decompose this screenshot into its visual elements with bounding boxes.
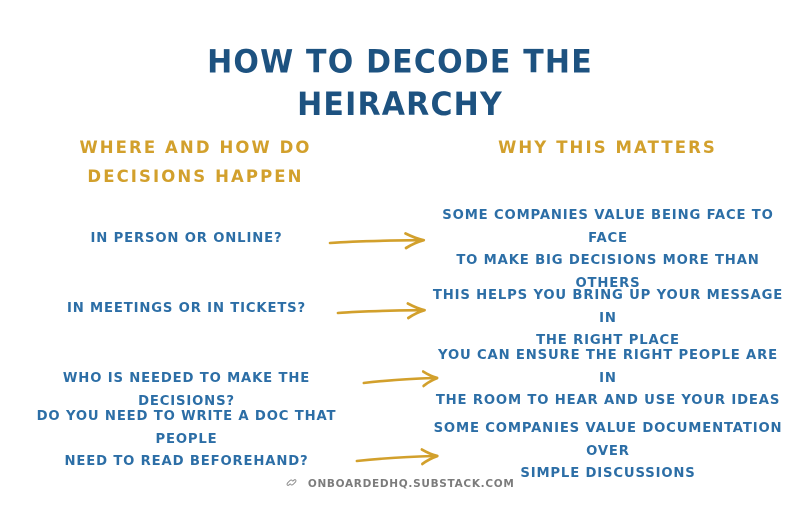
- question-line-1: DO YOU NEED TO WRITE A DOC THAT PEOPLE: [14, 406, 359, 451]
- arrow-right-icon: [328, 231, 436, 253]
- link-chain-icon: [285, 476, 298, 489]
- footer-attribution: ONBOARDEDHQ.SUBSTACK.COM: [0, 476, 800, 490]
- arrow-right-icon: [336, 301, 436, 323]
- reason-line-1: THIS HELPS YOU BRING UP YOUR MESSAGE IN: [428, 285, 788, 330]
- question-cell: DO YOU NEED TO WRITE A DOC THAT PEOPLE N…: [14, 406, 359, 474]
- page-title-line-1: HOW TO DECODE THE: [0, 42, 800, 84]
- column-header-right: WHY THIS MATTERS: [430, 134, 785, 163]
- question-line-1: IN MEETINGS OR IN TICKETS?: [14, 298, 359, 321]
- reason-cell: YOU CAN ENSURE THE RIGHT PEOPLE ARE IN T…: [428, 345, 788, 413]
- reason-cell: SOME COMPANIES VALUE BEING FACE TO FACE …: [428, 205, 788, 296]
- page-title-line-2: HEIRARCHY: [0, 84, 800, 126]
- question-line-1: IN PERSON OR ONLINE?: [14, 228, 359, 251]
- reason-line-1: SOME COMPANIES VALUE DOCUMENTATION OVER: [428, 418, 788, 463]
- question-cell: IN PERSON OR ONLINE?: [14, 228, 359, 251]
- page-title: HOW TO DECODE THE HEIRARCHY: [0, 42, 800, 126]
- question-cell: IN MEETINGS OR IN TICKETS?: [14, 298, 359, 321]
- infographic-poster: HOW TO DECODE THE HEIRARCHY WHERE AND HO…: [0, 0, 800, 528]
- reason-line-1: SOME COMPANIES VALUE BEING FACE TO FACE: [428, 205, 788, 250]
- column-header-left-line-2: HAPPEN: [215, 167, 303, 186]
- question-line-2: NEED TO READ BEFOREHAND?: [14, 451, 359, 474]
- reason-line-2: THE ROOM TO HEAR AND USE YOUR IDEAS: [428, 390, 788, 413]
- column-header-right-line-1: WHY THIS MATTERS: [498, 138, 717, 157]
- column-header-left: WHERE AND HOW DO DECISIONS HAPPEN: [18, 134, 373, 192]
- footer-url-text: ONBOARDEDHQ.SUBSTACK.COM: [308, 478, 515, 490]
- reason-cell: THIS HELPS YOU BRING UP YOUR MESSAGE IN …: [428, 285, 788, 353]
- reason-line-1: YOU CAN ENSURE THE RIGHT PEOPLE ARE IN: [428, 345, 788, 390]
